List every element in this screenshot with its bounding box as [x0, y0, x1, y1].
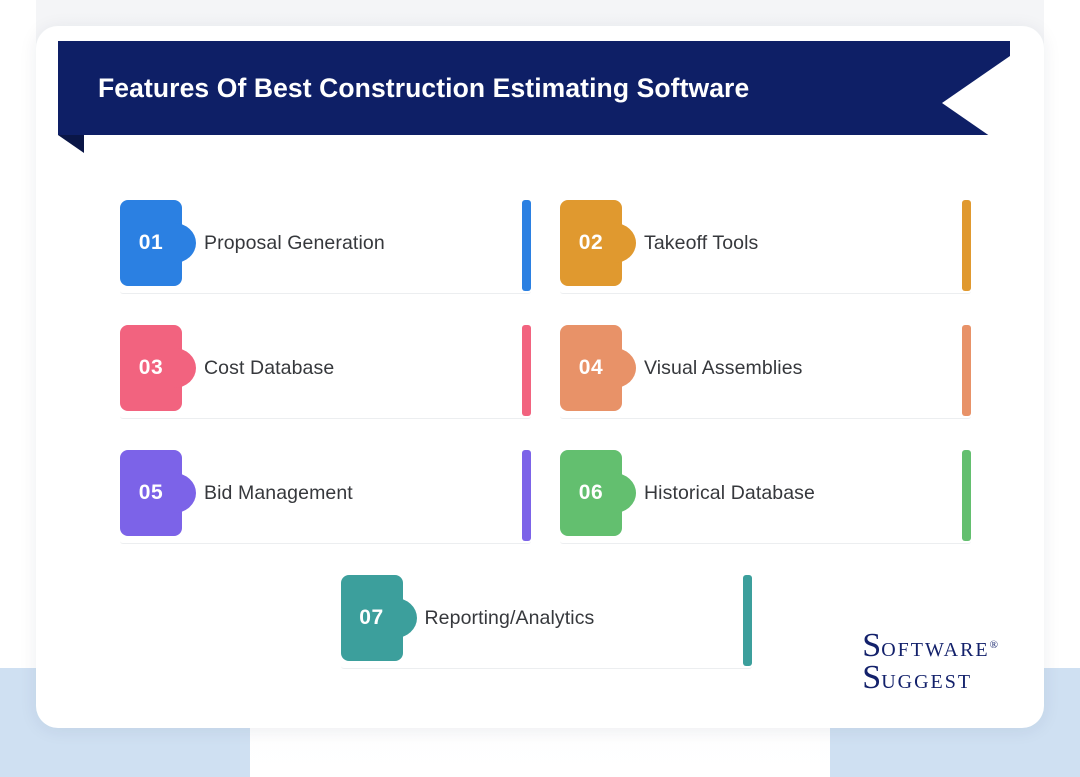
feature-accent-bar [522, 200, 531, 291]
feature-number-badge: 02 [560, 200, 622, 286]
feature-accent-bar [522, 450, 531, 541]
feature-number-badge: 01 [120, 200, 182, 286]
logo-line-software: S OFTWARE ® [862, 630, 998, 662]
feature-number-badge: 07 [341, 575, 403, 661]
feature-item-05[interactable]: 05 Bid Management [120, 442, 531, 544]
feature-item-01[interactable]: 01 Proposal Generation [120, 192, 531, 294]
feature-row: 05 Bid Management 06 Historical Database [120, 442, 972, 544]
feature-row: 03 Cost Database 04 Visual Assemblies [120, 317, 972, 419]
feature-label: Bid Management [204, 442, 353, 544]
feature-item-03[interactable]: 03 Cost Database [120, 317, 531, 419]
logo-line-suggest: S UGGEST [862, 662, 998, 694]
feature-item-06[interactable]: 06 Historical Database [560, 442, 971, 544]
feature-label: Takeoff Tools [644, 192, 758, 294]
feature-number-badge: 05 [120, 450, 182, 536]
feature-accent-bar [743, 575, 752, 666]
feature-label: Visual Assemblies [644, 317, 803, 419]
registered-mark-icon: ® [990, 640, 998, 650]
feature-list: 01 Proposal Generation 02 Takeoff Tools … [120, 192, 972, 692]
feature-accent-bar [962, 200, 971, 291]
logo-capital-s: S [862, 630, 881, 662]
feature-number-badge: 03 [120, 325, 182, 411]
feature-label: Proposal Generation [204, 192, 385, 294]
feature-accent-bar [522, 325, 531, 416]
feature-label: Historical Database [644, 442, 815, 544]
softwaresuggest-logo: S OFTWARE ® S UGGEST [862, 630, 998, 694]
logo-capital-s2: S [862, 662, 881, 694]
feature-item-02[interactable]: 02 Takeoff Tools [560, 192, 971, 294]
logo-text-oftware: OFTWARE [881, 641, 989, 660]
feature-row: 07 Reporting/Analytics [120, 567, 972, 669]
feature-item-07[interactable]: 07 Reporting/Analytics [341, 567, 752, 669]
feature-accent-bar [962, 450, 971, 541]
feature-number-badge: 06 [560, 450, 622, 536]
ribbon-notch-icon [942, 56, 1010, 150]
ribbon-fold [58, 135, 84, 153]
feature-row: 01 Proposal Generation 02 Takeoff Tools [120, 192, 972, 294]
feature-accent-bar [962, 325, 971, 416]
page-title: Features Of Best Construction Estimating… [58, 73, 749, 104]
feature-item-04[interactable]: 04 Visual Assemblies [560, 317, 971, 419]
title-ribbon: Features Of Best Construction Estimating… [58, 41, 1010, 135]
feature-label: Cost Database [204, 317, 334, 419]
feature-label: Reporting/Analytics [425, 567, 595, 669]
content-card: Features Of Best Construction Estimating… [36, 26, 1044, 728]
logo-text-uggest: UGGEST [881, 673, 972, 692]
feature-number-badge: 04 [560, 325, 622, 411]
